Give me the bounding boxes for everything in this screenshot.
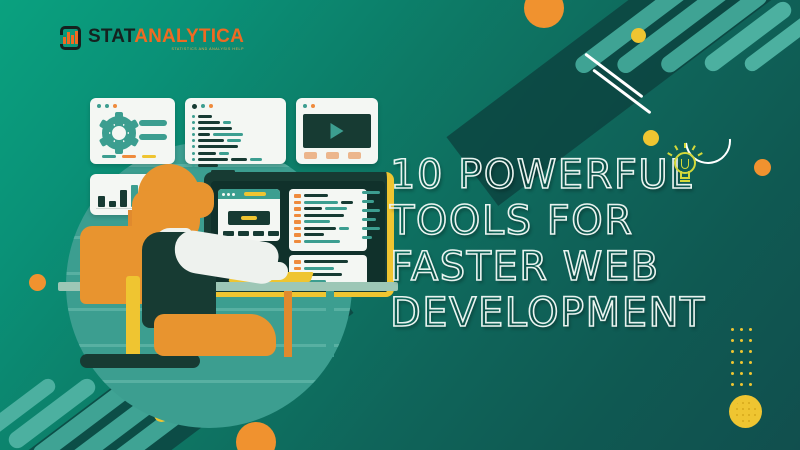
brand-name-part1: STAT: [88, 26, 134, 47]
desk-leg: [284, 291, 292, 357]
person-head: [184, 182, 214, 218]
headline-line-4: DEVELOPMENT: [390, 290, 720, 336]
developer-at-desk-illustration: [58, 86, 398, 386]
headline-line-3: FASTER WEB: [390, 244, 720, 290]
poster-canvas: STATANALYTICA STATISTICS AND ANALYSIS HE…: [0, 0, 800, 450]
video-screen: [303, 114, 371, 148]
person-hand: [254, 262, 288, 280]
decor-stripe: [614, 0, 744, 76]
decor-dot-grid: [731, 328, 758, 394]
decor-stripe: [658, 0, 770, 76]
decor-slash-line: [584, 53, 643, 98]
decor-yellow-circle: [643, 130, 659, 146]
code-list-panel: [289, 189, 367, 251]
brand-tagline: STATISTICS AND ANALYSIS HELP: [88, 48, 244, 52]
brand-logo[interactable]: STATANALYTICA STATISTICS AND ANALYSIS HE…: [60, 26, 244, 52]
gear-icon: [102, 116, 136, 150]
brand-wordmark: STATANALYTICA STATISTICS AND ANALYSIS HE…: [88, 26, 244, 52]
play-icon: [331, 123, 344, 139]
decor-orange-circle: [754, 159, 771, 176]
decor-yellow-circle: [631, 28, 646, 43]
chair-stem: [126, 276, 140, 362]
desk-leg: [326, 291, 334, 357]
decor-stripe: [572, 0, 718, 76]
decor-orange-circle: [236, 422, 276, 450]
code-lines-icon: [192, 115, 279, 176]
headline-block: 10 POWERFUL TOOLS FOR FASTER WEB DEVELOP…: [390, 152, 720, 336]
headline-line-2: TOOLS FOR: [390, 198, 720, 244]
settings-card: [90, 98, 175, 164]
code-editor-card: [185, 98, 286, 164]
person-lap: [154, 314, 276, 356]
sidebar-strip: [362, 191, 380, 245]
decor-slash-line: [592, 69, 651, 114]
decor-dotted-ball: [729, 395, 762, 428]
form-panel: [218, 189, 280, 241]
decor-stripe: [0, 376, 58, 437]
brand-name-part2: ANALYTICA: [134, 26, 244, 47]
decor-orange-circle: [524, 0, 564, 28]
lightbulb-icon: [668, 146, 702, 186]
video-player-card: [296, 98, 378, 164]
chair-base: [80, 354, 200, 368]
decor-stripe: [701, 0, 794, 75]
decor-stripe: [742, 13, 800, 74]
stat-bracket-bars-icon: [60, 26, 81, 50]
decor-stripe: [5, 375, 98, 450]
decor-orange-circle: [29, 274, 46, 291]
